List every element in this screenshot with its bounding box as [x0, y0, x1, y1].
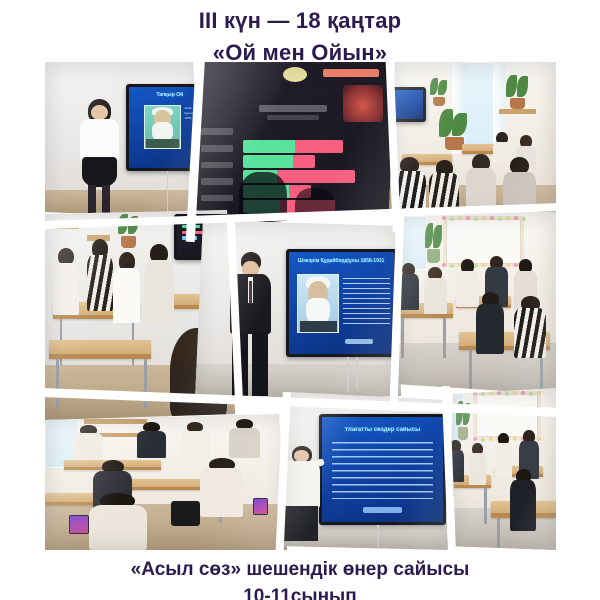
- poster-footer: «Асыл сөз» шешендік өнер сайысы 10-11сын…: [0, 556, 600, 600]
- photo-presenter-girl: Тапқыр Ой Абай Құнанбайұлы 1845-1904: [45, 62, 201, 218]
- quiz-bar: [243, 140, 343, 153]
- photo-blue-screen: Үлағатты сөздер сайысы: [281, 392, 453, 550]
- photo-quiz-results: [195, 62, 395, 228]
- poster-heading: III күн — 18 қаңтар «Ой мен Ойын»: [0, 0, 600, 68]
- footer-line-1: «Асыл сөз» шешендік өнер сайысы: [0, 556, 600, 583]
- photo-students-desks: [395, 212, 556, 394]
- screen-title-shakarim: Шәкәрім Құдайбердіұлы 1858-1931: [295, 258, 388, 264]
- footer-line-2: 10-11сынып: [0, 583, 600, 600]
- screen-title-tapqyr-oi: Тапқыр Ой: [134, 92, 201, 98]
- photo-phone-quiz: [45, 414, 287, 550]
- poster-canvas: III күн — 18 қаңтар «Ой мен Ойын» Тапқыр…: [0, 0, 600, 600]
- photo-collage: Тапқыр Ой Абай Құнанбайұлы 1845-1904: [45, 62, 556, 550]
- photo-presenter-boy: Шәкәрім Құдайбердіұлы 1858-1931: [195, 220, 401, 400]
- student-phone: [69, 515, 88, 534]
- screen-title-ulagatty: Үлағатты сөздер сайысы: [329, 427, 436, 433]
- heading-line-1: III күн — 18 қаңтар: [0, 0, 600, 36]
- quiz-logo: [283, 67, 307, 82]
- quiz-top-banner: [323, 69, 379, 77]
- student-phone: [253, 498, 268, 514]
- quiz-bar: [243, 155, 315, 168]
- photo-classroom-plants: [389, 62, 556, 220]
